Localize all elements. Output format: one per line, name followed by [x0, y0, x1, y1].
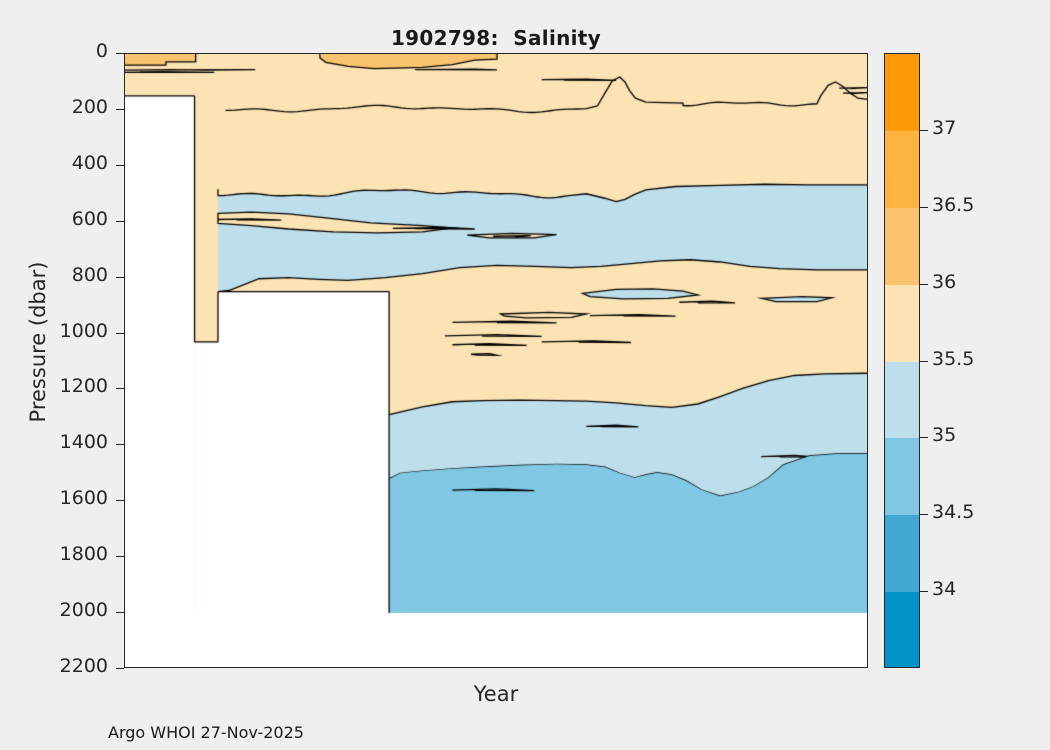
colorbar[interactable] — [884, 53, 920, 668]
y-axis-tick-mark — [116, 109, 124, 110]
footer-credit: Argo WHOI 27-Nov-2025 — [108, 723, 304, 742]
y-axis-tick-label: 1200 — [0, 375, 108, 397]
colorbar-band — [885, 592, 919, 668]
colorbar-tick-label: 36 — [932, 271, 956, 293]
chart-title: 1902798: Salinity — [124, 26, 868, 50]
y-axis-tick-label: 1600 — [0, 487, 108, 509]
colorbar-tick-label: 37 — [932, 117, 956, 139]
colorbar-tick-mark — [920, 284, 928, 285]
figure-canvas: 1902798: Salinity 0200400600800100012001… — [0, 0, 1050, 750]
colorbar-tick-mark — [920, 207, 928, 208]
colorbar-tick-label: 34 — [932, 578, 956, 600]
y-axis-tick-label: 2200 — [0, 655, 108, 677]
y-axis-tick-mark — [116, 53, 124, 54]
plot-area[interactable] — [124, 53, 868, 668]
colorbar-band — [885, 362, 919, 439]
colorbar-tick-mark — [920, 514, 928, 515]
colorbar-band — [885, 515, 919, 592]
colorbar-band — [885, 54, 919, 131]
colorbar-band — [885, 438, 919, 515]
y-axis-tick-mark — [116, 221, 124, 222]
y-axis-tick-label: 400 — [0, 152, 108, 174]
y-axis-tick-label: 1800 — [0, 543, 108, 565]
colorbar-tick-mark — [920, 437, 928, 438]
salinity-contour-plot — [125, 54, 868, 668]
y-axis-tick-mark — [116, 556, 124, 557]
y-axis-tick-label: 0 — [0, 40, 108, 62]
y-axis-tick-mark — [116, 277, 124, 278]
y-axis-tick-mark — [116, 165, 124, 166]
colorbar-tick-mark — [920, 130, 928, 131]
colorbar-tick-label: 35 — [932, 424, 956, 446]
colorbar-tick-mark — [920, 361, 928, 362]
colorbar-tick-mark — [920, 591, 928, 592]
colorbar-band — [885, 131, 919, 208]
y-axis-tick-label: 800 — [0, 264, 108, 286]
y-axis-tick-mark — [116, 388, 124, 389]
colorbar-band — [885, 285, 919, 362]
y-axis-tick-mark — [116, 444, 124, 445]
colorbar-tick-label: 36.5 — [932, 194, 974, 216]
colorbar-tick-label: 34.5 — [932, 501, 974, 523]
y-axis-tick-mark — [116, 668, 124, 669]
y-axis-tick-mark — [116, 500, 124, 501]
y-axis-tick-mark — [116, 612, 124, 613]
y-axis-label: Pressure (dbar) — [26, 62, 50, 622]
x-axis-label: Year — [124, 682, 868, 706]
y-axis-tick-label: 200 — [0, 96, 108, 118]
y-axis-tick-label: 2000 — [0, 599, 108, 621]
y-axis-tick-mark — [116, 333, 124, 334]
y-axis-tick-label: 1400 — [0, 431, 108, 453]
colorbar-tick-label: 35.5 — [932, 348, 974, 370]
colorbar-band — [885, 208, 919, 285]
y-axis-tick-label: 1000 — [0, 320, 108, 342]
y-axis-tick-label: 600 — [0, 208, 108, 230]
